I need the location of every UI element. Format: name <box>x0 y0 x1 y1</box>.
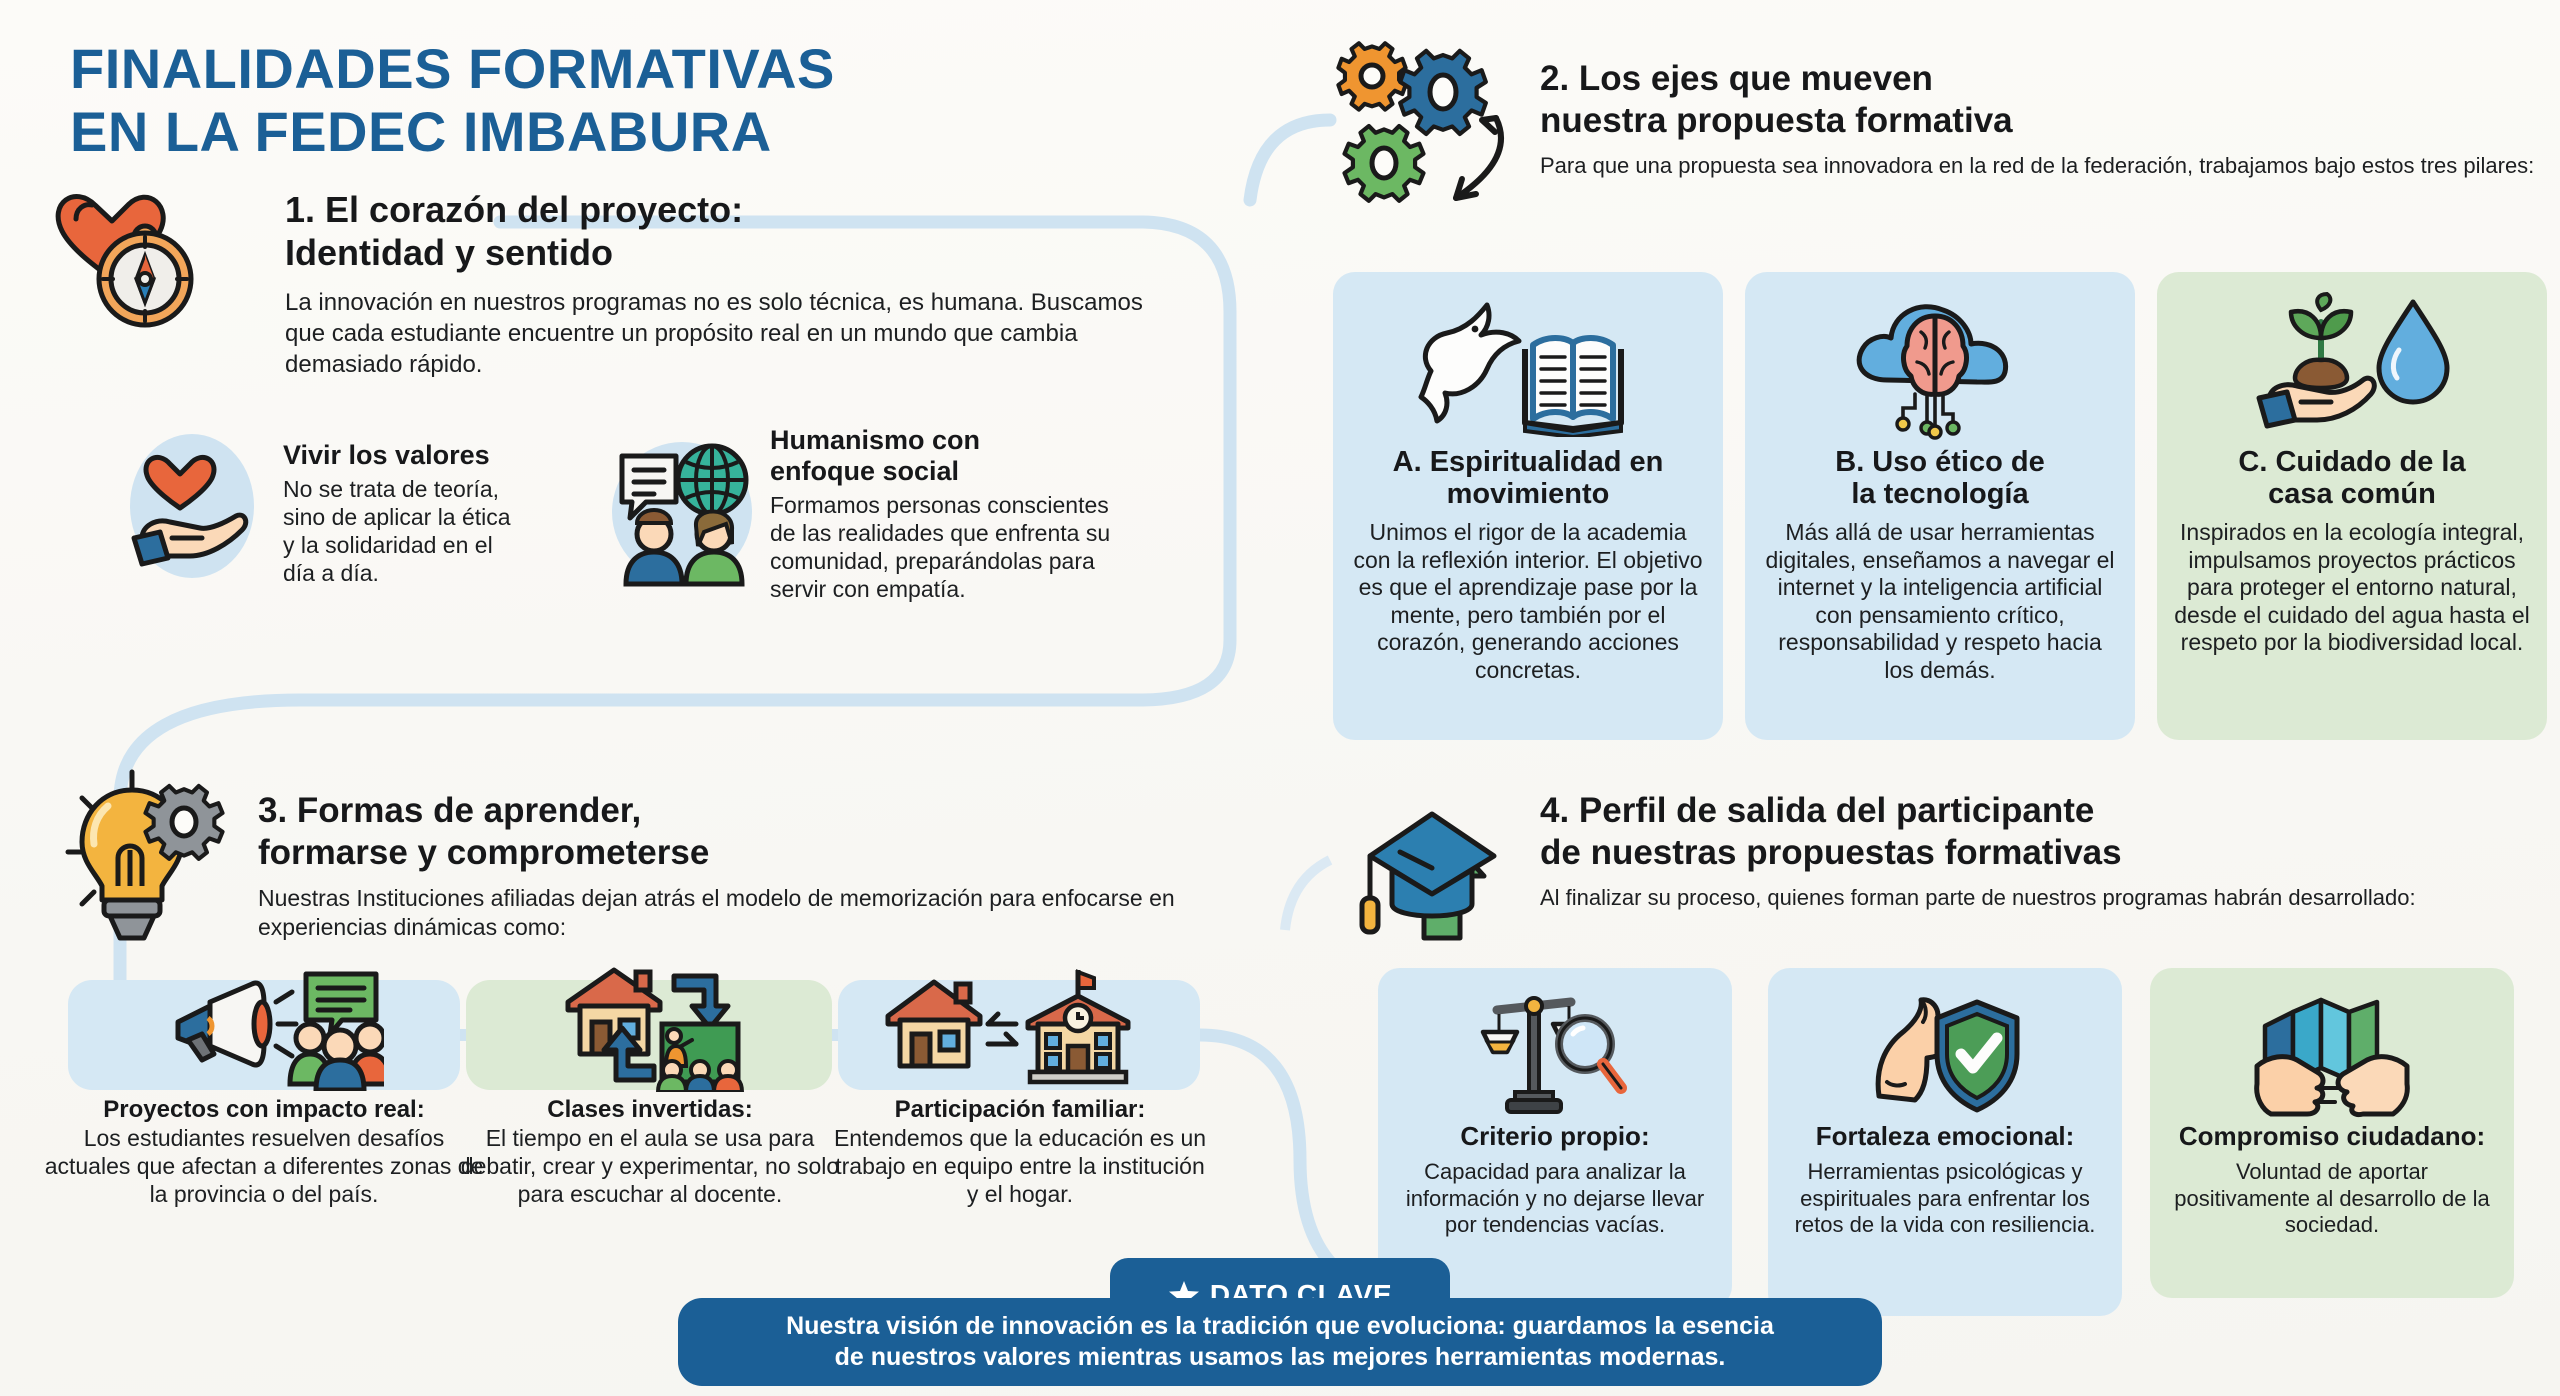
section1-header: 1. El corazón del proyecto: Identidad y … <box>285 188 1185 381</box>
brain-cloud-circuit-icon <box>1761 292 2119 442</box>
subitem-vivir-los-valores: Vivir los valores No se trata de teoría,… <box>283 440 523 587</box>
subitem-body: No se trata de teoría, sino de aplicar l… <box>283 475 523 587</box>
pillar-title-line1: B. Uso ético de <box>1835 446 2045 478</box>
outcome-body: Herramientas psicológicas y espirituales… <box>1784 1159 2106 1238</box>
page-title-line1: FINALIDADES FORMATIVAS <box>70 37 835 100</box>
dato-clave-text-line1: Nuestra visión de innovación es la tradi… <box>786 1312 1774 1340</box>
learning-body: El tiempo en el aula se usa para debatir… <box>461 1125 839 1207</box>
section4-header: 4. Perfil de salida del participante de … <box>1540 790 2550 912</box>
section2-title-line1: 2. Los ejes que mueven <box>1540 59 1933 98</box>
pillar-title-line2: movimiento <box>1447 478 1610 510</box>
pillar-title-line1: C. Cuidado de la <box>2238 446 2465 478</box>
outcome-title: Fortaleza emocional: <box>1784 1122 2106 1151</box>
subitem-body: Formamos personas conscientes de las rea… <box>770 491 1140 603</box>
pillar-body: Unimos el rigor de la academia con la re… <box>1349 519 1707 685</box>
learning-title: Clases invertidas: <box>452 1095 848 1124</box>
subitem-title: Vivir los valores <box>283 440 523 471</box>
subitem-title-line1: Humanismo con <box>770 425 980 455</box>
learning-body: Entendemos que la educación es un trabaj… <box>834 1125 1206 1207</box>
section3-header: 3. Formas de aprender, formarse y compro… <box>258 790 1268 943</box>
pillar-title-line2: la tecnología <box>1851 478 2028 510</box>
section2-intro: Para que una propuesta sea innovadora en… <box>1540 152 2550 180</box>
infographic-canvas: FINALIDADES FORMATIVAS EN LA FEDEC IMBAB… <box>0 0 2560 1396</box>
learning-caption-proyectos: Proyectos con impacto real: Los estudian… <box>38 1095 490 1208</box>
section3-title: 3. Formas de aprender, formarse y compro… <box>258 790 1268 874</box>
heart-in-hand-icon <box>128 430 258 585</box>
outcome-card-fortaleza-emocional[interactable]: Fortaleza emocional: Herramientas psicol… <box>1768 968 2122 1316</box>
section4-title-line2: de nuestras propuestas formativas <box>1540 833 2122 872</box>
scales-magnifier-icon <box>1394 988 1716 1118</box>
page-title: FINALIDADES FORMATIVAS EN LA FEDEC IMBAB… <box>70 38 835 163</box>
learning-title: Proyectos con impacto real: <box>38 1095 490 1124</box>
outcome-title: Criterio propio: <box>1394 1122 1716 1151</box>
subitem-title-line2: enfoque social <box>770 456 959 486</box>
dove-book-icon <box>1349 292 1707 442</box>
pillar-body: Más allá de usar herramientas digitales,… <box>1761 519 2119 685</box>
dato-clave-banner: Nuestra visión de innovación es la tradi… <box>678 1298 1882 1386</box>
pillar-card-casa-comun[interactable]: C. Cuidado de la casa común Inspirados e… <box>2157 272 2547 740</box>
outcome-card-compromiso-ciudadano[interactable]: Compromiso ciudadano: Voluntad de aporta… <box>2150 968 2514 1298</box>
learning-caption-clases-invertidas: Clases invertidas: El tiempo en el aula … <box>452 1095 848 1208</box>
heart-compass-icon <box>50 175 250 350</box>
house-classroom-swap-icon <box>558 962 758 1092</box>
section2-header: 2. Los ejes que mueven nuestra propuesta… <box>1540 58 2540 180</box>
learning-caption-participacion-familiar: Participación familiar: Entendemos que l… <box>830 1095 1210 1208</box>
people-globe-chat-icon <box>608 440 758 595</box>
outcome-card-criterio-propio[interactable]: Criterio propio: Capacidad para analizar… <box>1378 968 1732 1308</box>
pillar-title: B. Uso ético de la tecnología <box>1761 446 2119 511</box>
pillar-card-tecnologia[interactable]: B. Uso ético de la tecnología Más allá d… <box>1745 272 2135 740</box>
outcome-title: Compromiso ciudadano: <box>2166 1122 2498 1151</box>
pillar-title-line1: A. Espiritualidad en <box>1393 446 1664 478</box>
section1-intro: La innovación en nuestros programas no e… <box>285 288 1165 380</box>
learning-title: Participación familiar: <box>830 1095 1210 1124</box>
megaphone-people-icon <box>164 966 384 1091</box>
section1-title-line2: Identidad y sentido <box>285 232 613 273</box>
gears-icon <box>1330 30 1530 225</box>
outcome-body: Voluntad de aportar positivamente al des… <box>2166 1159 2498 1238</box>
flexed-arm-shield-icon <box>1784 988 2106 1118</box>
graduation-cap-arrow-icon <box>1340 790 1530 965</box>
outcome-body: Capacidad para analizar la información y… <box>1394 1159 1716 1238</box>
learning-chip-participacion-familiar[interactable] <box>838 980 1200 1090</box>
learning-chip-proyectos[interactable] <box>68 980 460 1090</box>
section4-intro: Al finalizar su proceso, quienes forman … <box>1540 884 2530 912</box>
subitem-humanismo-con-enfoque-social: Humanismo con enfoque social Formamos pe… <box>770 425 1140 603</box>
home-school-exchange-icon <box>882 962 1152 1090</box>
lightbulb-gear-icon <box>60 768 250 953</box>
section4-title-line1: 4. Perfil de salida del participante <box>1540 791 2094 830</box>
pillar-title-line2: casa común <box>2268 478 2436 510</box>
section3-intro: Nuestras Instituciones afiliadas dejan a… <box>258 884 1218 943</box>
sprout-hand-waterdrop-icon <box>2173 292 2531 442</box>
section1-title: 1. El corazón del proyecto: Identidad y … <box>285 188 1185 274</box>
pillar-title: A. Espiritualidad en movimiento <box>1349 446 1707 511</box>
handshake-map-icon <box>2166 988 2498 1118</box>
dato-clave-text-line2: de nuestros valores mientras usamos las … <box>835 1343 1726 1371</box>
learning-chip-clases-invertidas[interactable] <box>466 980 832 1090</box>
section2-title-line2: nuestra propuesta formativa <box>1540 101 2013 140</box>
section3-title-line1: 3. Formas de aprender, <box>258 791 641 830</box>
subitem-title: Humanismo con enfoque social <box>770 425 1140 487</box>
pillar-body: Inspirados en la ecología integral, impu… <box>2173 519 2531 657</box>
pillar-card-espiritualidad[interactable]: A. Espiritualidad en movimiento Unimos e… <box>1333 272 1723 740</box>
section2-title: 2. Los ejes que mueven nuestra propuesta… <box>1540 58 2540 142</box>
learning-body: Los estudiantes resuelven desafíos actua… <box>45 1125 484 1207</box>
section4-title: 4. Perfil de salida del participante de … <box>1540 790 2550 874</box>
pillar-title: C. Cuidado de la casa común <box>2173 446 2531 511</box>
section1-title-line1: 1. El corazón del proyecto: <box>285 189 743 230</box>
section3-title-line2: formarse y comprometerse <box>258 833 709 872</box>
page-title-line2: EN LA FEDEC IMBABURA <box>70 101 835 164</box>
